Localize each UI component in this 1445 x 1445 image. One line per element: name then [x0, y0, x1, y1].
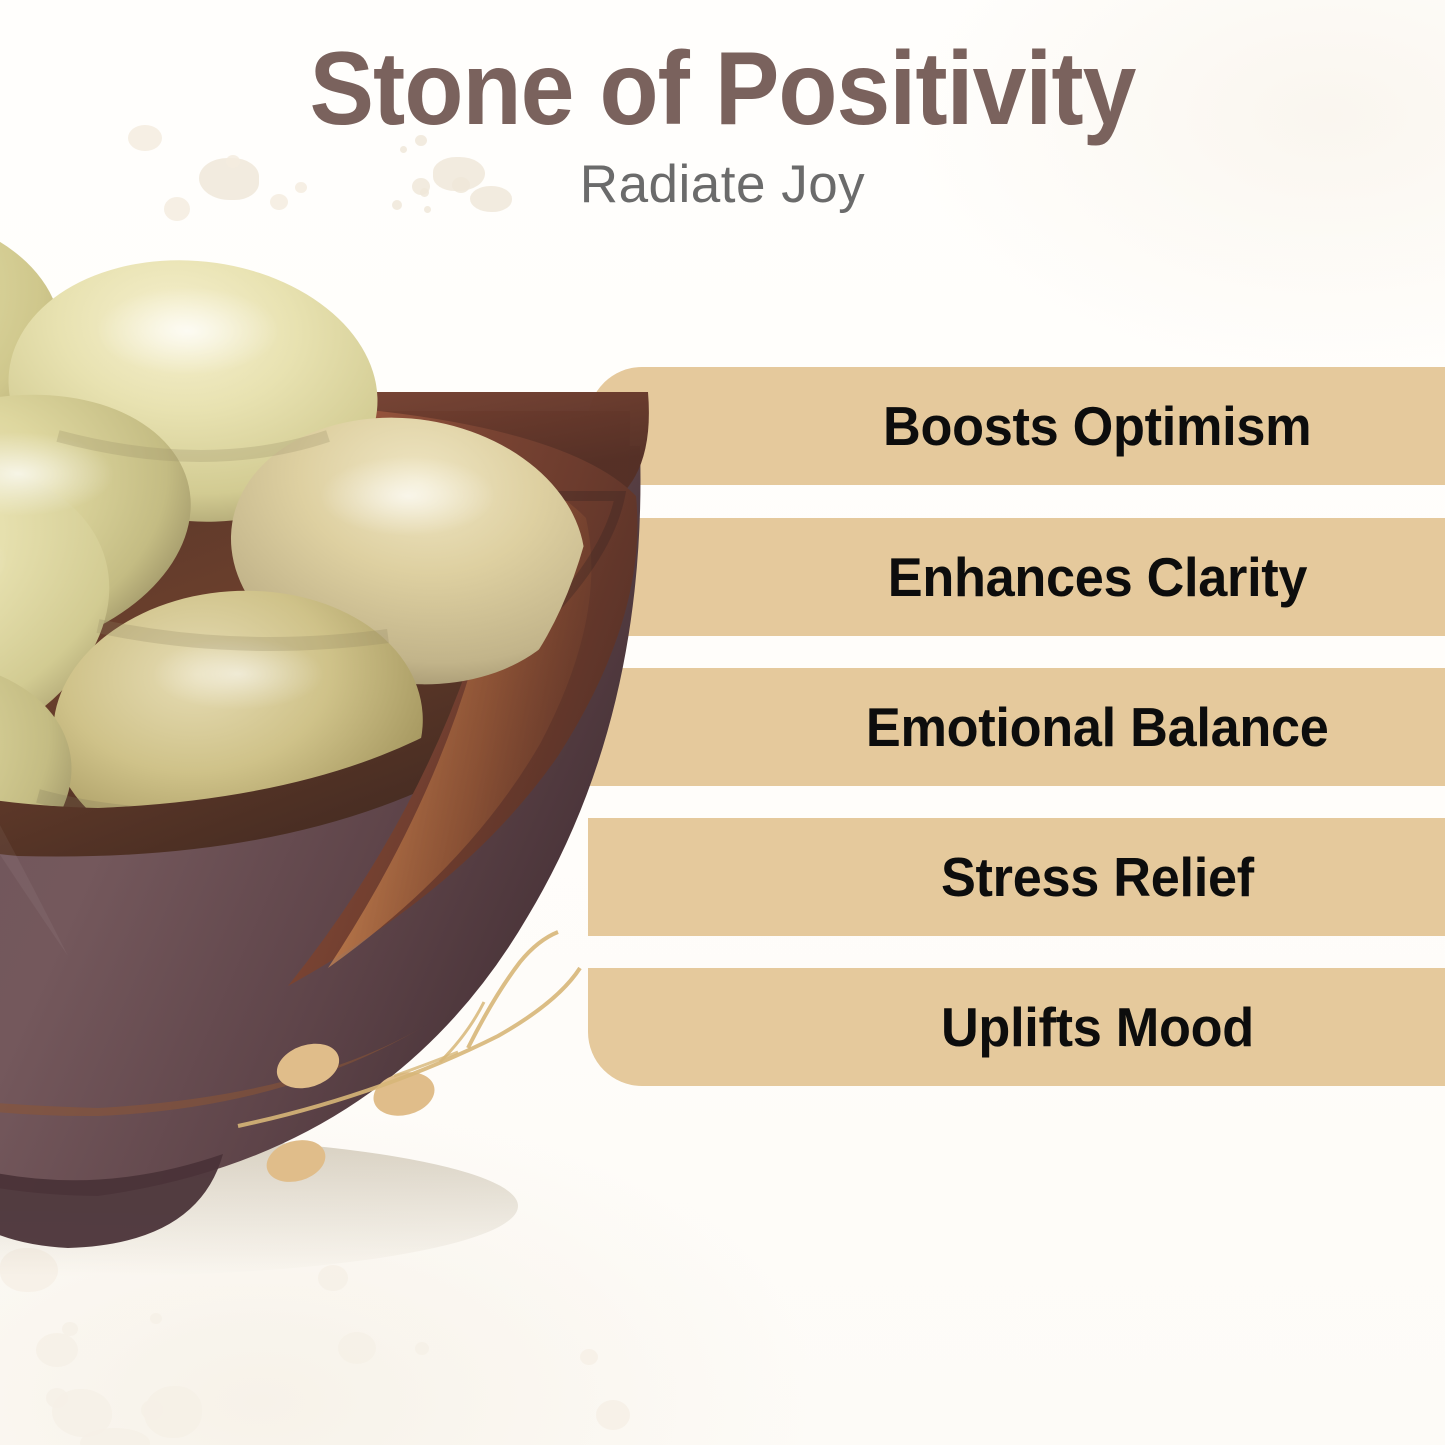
page-subtitle: Radiate Joy — [0, 156, 1445, 214]
infographic-canvas: Boosts Optimism Enhances Clarity Emotion… — [0, 0, 1445, 1445]
benefit-label: Boosts Optimism — [722, 399, 1312, 454]
stone-highlight — [96, 287, 280, 375]
benefit-label: Emotional Balance — [704, 700, 1328, 755]
benefit-bar-3[interactable]: Emotional Balance — [588, 668, 1445, 786]
benefit-label: Stress Relief — [779, 850, 1253, 905]
benefit-label: Uplifts Mood — [779, 1000, 1253, 1055]
benefit-label: Enhances Clarity — [726, 550, 1307, 605]
benefit-bar-4[interactable]: Stress Relief — [588, 818, 1445, 936]
benefit-bar-5[interactable]: Uplifts Mood — [588, 968, 1445, 1086]
page-title: Stone of Positivity — [51, 34, 1395, 144]
stone-highlight — [320, 456, 496, 536]
header-block: Stone of Positivity Radiate Joy — [0, 34, 1445, 215]
benefit-bar-1[interactable]: Boosts Optimism — [588, 367, 1445, 485]
product-photo-bowl-of-citrine-stones — [0, 196, 673, 1294]
benefit-bar-2[interactable]: Enhances Clarity — [588, 518, 1445, 636]
